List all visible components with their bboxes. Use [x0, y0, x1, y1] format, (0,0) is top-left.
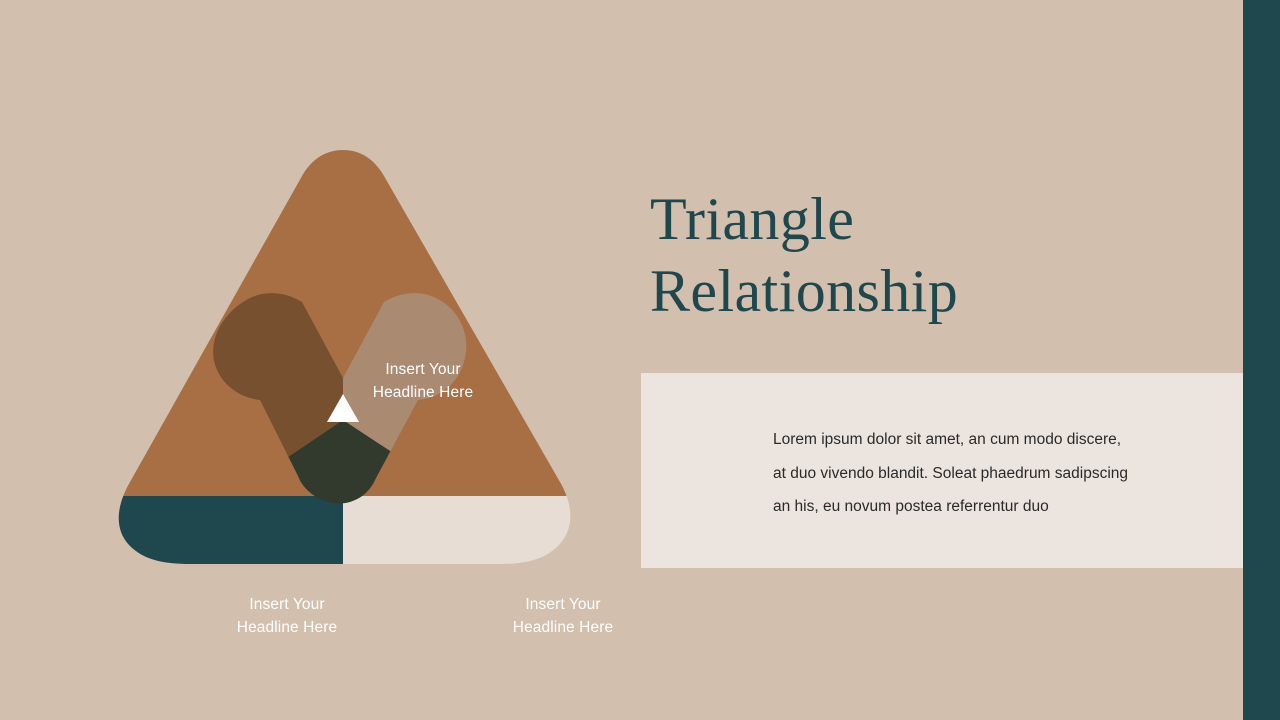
right-edge-accent-bar [1243, 0, 1280, 720]
segment-right-fill[interactable] [343, 496, 646, 650]
diagram-base-segments [40, 50, 646, 650]
triangle-relationship-diagram: Insert Your Headline Here Insert Your He… [80, 130, 610, 590]
page-title: Triangle Relationship [650, 183, 1170, 327]
segment-left-fill[interactable] [40, 496, 343, 650]
segment-right-label: Insert Your Headline Here [473, 593, 653, 639]
description-panel: Lorem ipsum dolor sit amet, an cum modo … [641, 373, 1243, 568]
segment-left-label: Insert Your Headline Here [197, 593, 377, 639]
description-body-text: Lorem ipsum dolor sit amet, an cum modo … [773, 423, 1203, 524]
slide: Insert Your Headline Here Insert Your He… [0, 0, 1280, 720]
